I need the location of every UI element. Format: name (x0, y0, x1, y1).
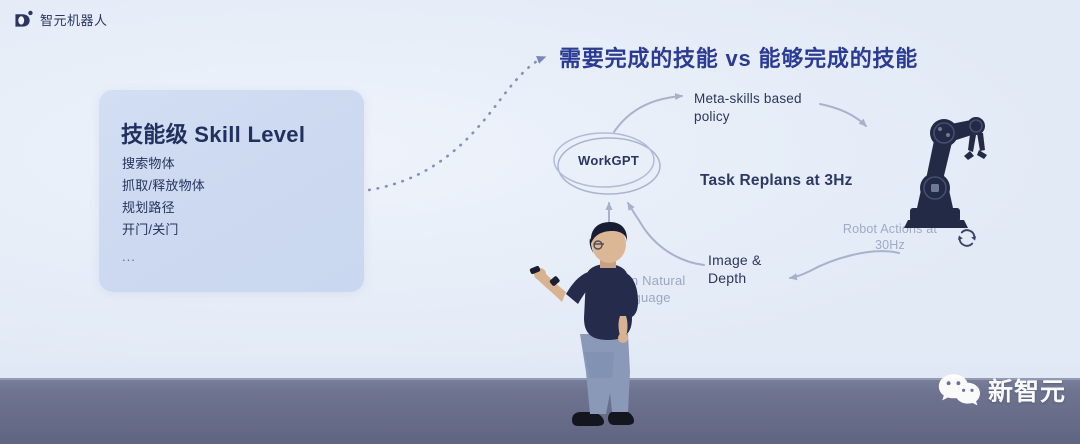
label-meta-skills-line2: policy (694, 108, 802, 126)
slide-headline: 需要完成的技能 vs 能够完成的技能 (559, 41, 918, 73)
label-image-depth-line2: Depth (708, 269, 762, 287)
screenshot-root: 技能级 Skill Level 搜索物体 抓取/释放物体 规划路径 开门/关门 … (0, 0, 1080, 444)
wechat-watermark: 新智元 (938, 372, 1066, 408)
dotted-curved-arrow-icon (352, 57, 545, 192)
arrow-robot-to-imagedepth (790, 251, 899, 278)
label-task-replans: Task Replans at 3Hz (700, 172, 853, 190)
brand-name: 智元机器人 (40, 10, 108, 29)
refresh-cycle-icon (955, 226, 979, 250)
arrow-metaskills-to-robot (820, 104, 866, 126)
label-image-depth: Image & Depth (708, 251, 762, 287)
arrow-workgpt-to-metaskills (614, 96, 682, 132)
skill-level-card: 技能级 Skill Level 搜索物体 抓取/释放物体 规划路径 开门/关门 … (99, 90, 364, 292)
skill-item: 规划路径 (122, 197, 205, 219)
label-image-depth-line1: Image & (708, 251, 762, 269)
skill-item-ellipsis: ... (122, 241, 205, 268)
skill-card-title: 技能级 Skill Level (121, 117, 305, 149)
robot-arm-icon (884, 104, 988, 234)
skill-card-list: 搜索物体 抓取/释放物体 规划路径 开门/关门 ... (122, 153, 205, 268)
label-workgpt: WorkGPT (578, 153, 639, 168)
label-robot-actions-line2: 30Hz (834, 237, 946, 253)
presenter-person-icon (528, 222, 688, 434)
skill-item: 搜索物体 (122, 153, 205, 175)
label-meta-skills-policy: Meta-skills based policy (694, 90, 802, 126)
wechat-icon (938, 373, 980, 407)
brand-logo: 智元机器人 (14, 10, 108, 29)
skill-item: 开门/关门 (122, 219, 205, 241)
label-meta-skills-line1: Meta-skills based (694, 90, 802, 108)
skill-item: 抓取/释放物体 (122, 175, 205, 197)
zhiyuan-d-logo-icon (14, 10, 33, 29)
watermark-text: 新智元 (988, 372, 1066, 408)
